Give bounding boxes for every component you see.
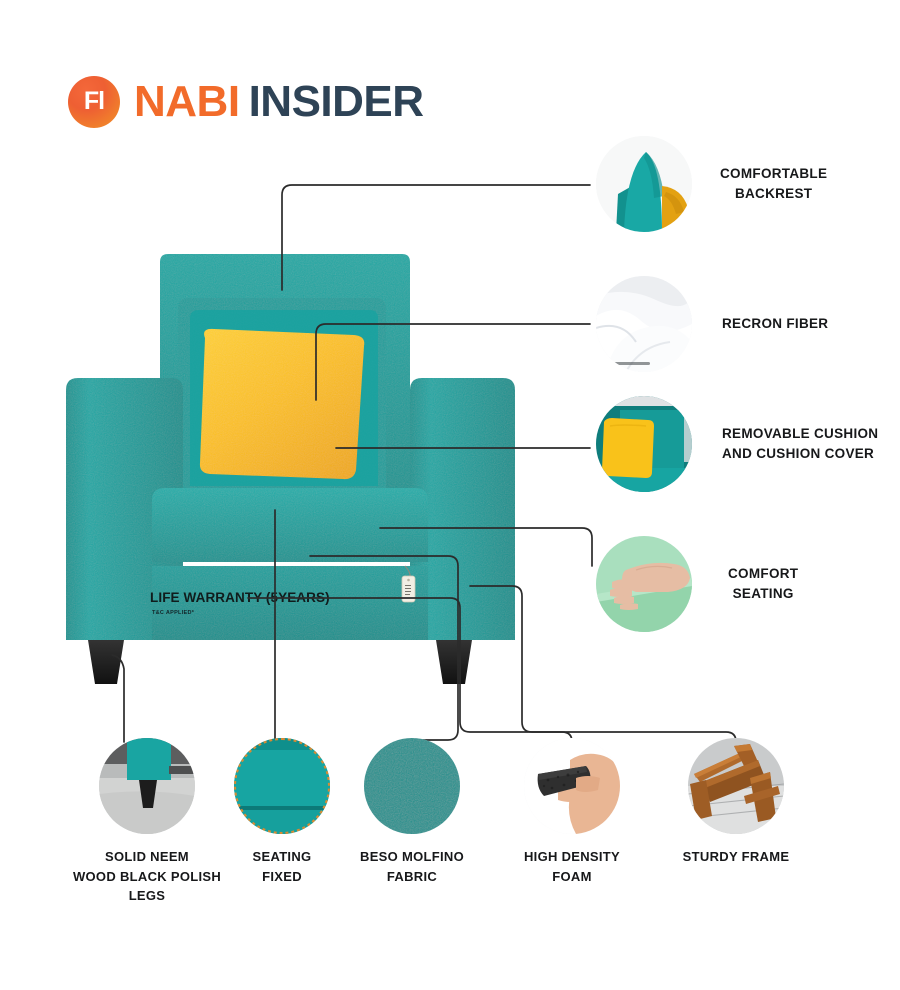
seating-fixed-thumbnail-icon [234, 738, 330, 834]
callout-label: COMFORT SEATING [728, 564, 798, 603]
high-density-foam-thumbnail-icon [524, 738, 620, 834]
feature-label: HIGH DENSITY FOAM [482, 847, 662, 886]
feature-label: STURDY FRAME [646, 847, 826, 867]
fabric-swatch-thumbnail-icon [364, 738, 460, 834]
feature-high-density-foam: HIGH DENSITY FOAM [482, 738, 662, 886]
backrest-thumbnail-icon [596, 136, 692, 232]
callout-comfortable-backrest: COMFORTABLE BACKREST [596, 136, 827, 232]
wooden-legs-thumbnail-icon [99, 738, 195, 834]
chair-accent-pillow [200, 329, 364, 479]
feature-beso-molfino-fabric: BESO MOLFINO FABRIC [322, 738, 502, 886]
chair-seat-cushion [152, 488, 428, 562]
chair-leg-right [436, 640, 472, 684]
callout-recron-fiber: RECRON FIBER [596, 276, 828, 372]
warranty-text: LIFE WARRANTY (5YEARS) [150, 590, 330, 605]
callout-removable-cushion: REMOVABLE CUSHION AND CUSHION COVER [596, 396, 878, 492]
feature-label: BESO MOLFINO FABRIC [322, 847, 502, 886]
callout-label: COMFORTABLE BACKREST [720, 164, 827, 203]
chair-leg-left [88, 640, 124, 684]
sturdy-frame-thumbnail-icon [688, 738, 784, 834]
callout-label: RECRON FIBER [722, 314, 828, 334]
callout-comfort-seating: COMFORT SEATING [596, 536, 798, 632]
warranty-subtext: T&C APPLIED* [152, 610, 195, 616]
callout-label: REMOVABLE CUSHION AND CUSHION COVER [722, 424, 878, 463]
recron-fiber-thumbnail-icon [596, 276, 692, 372]
removable-cushion-thumbnail-icon [596, 396, 692, 492]
comfort-seating-thumbnail-icon [596, 536, 692, 632]
armchair-group: LIFE WARRANTY (5YEARS) T&C APPLIED* [66, 254, 515, 684]
feature-sturdy-frame: STURDY FRAME [646, 738, 826, 867]
